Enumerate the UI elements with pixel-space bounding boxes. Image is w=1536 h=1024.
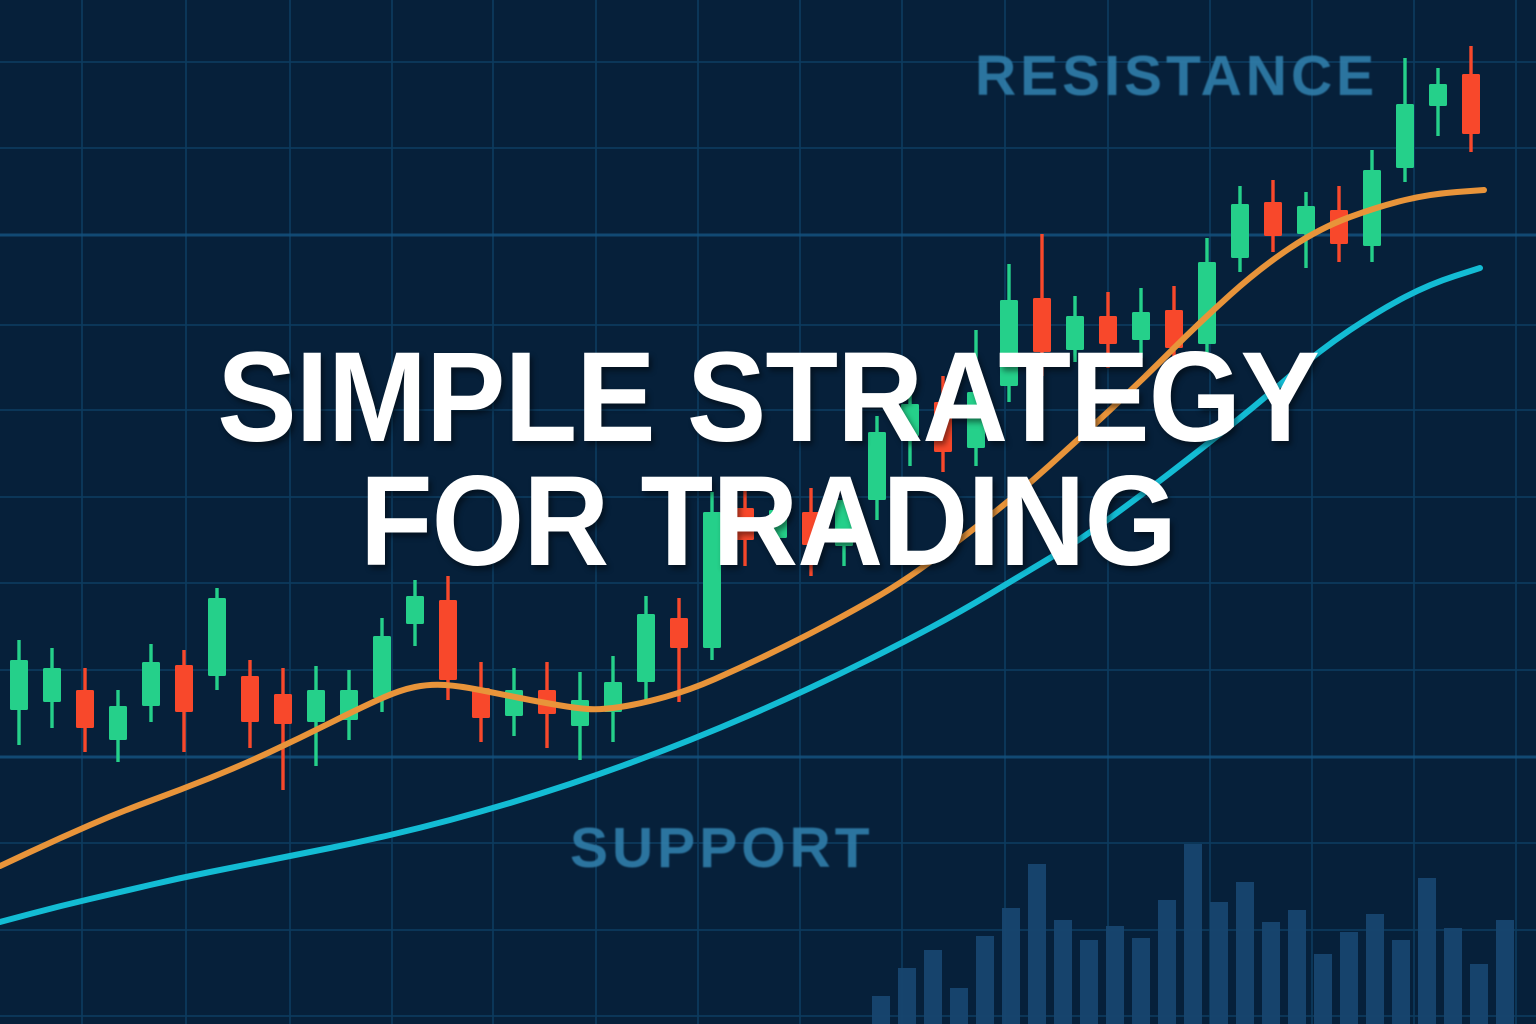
volume-bar [1236,882,1254,1024]
candle-body [769,510,787,538]
candle-body [76,690,94,728]
candle-body [934,402,952,452]
volume-bar [1366,914,1384,1024]
candle-body [802,512,820,545]
volume-bar [1158,900,1176,1024]
candle-body [1000,300,1018,386]
volume-bar [1470,964,1488,1024]
candle-body [373,636,391,698]
candle-body [670,618,688,648]
volume-bar [1288,910,1306,1024]
candle-body [1231,204,1249,258]
volume-bar [872,996,890,1024]
ma-slow-line [0,268,1480,922]
candle-body [868,432,886,500]
candle-body [1033,298,1051,352]
trading-chart-banner: RESISTANCE SUPPORT SIMPLE STRATEGY FOR T… [0,0,1536,1024]
candle-body [1297,206,1315,234]
candle-body [1198,262,1216,344]
candle-body [1099,316,1117,344]
candle-body [1429,84,1447,106]
volume-bar [976,936,994,1024]
candle-body [307,690,325,722]
volume-bar [1392,940,1410,1024]
volume-bar [1210,902,1228,1024]
candle-body [109,706,127,740]
candle-body [1132,312,1150,340]
candle-body [439,600,457,680]
candle-body [703,512,721,648]
candle-body [241,676,259,722]
volume-bar [1184,844,1202,1024]
candle-body [406,596,424,624]
candle-body [208,598,226,676]
candle-body [835,500,853,546]
volume-bar [950,988,968,1024]
candle-body [142,662,160,706]
candle-body [10,660,28,710]
candle-body [43,668,61,702]
candle-body [901,404,919,436]
volume-bar [1132,938,1150,1024]
volume-bar [1418,878,1436,1024]
candle-body [274,694,292,724]
candle-body [1066,316,1084,350]
candle-body [637,614,655,682]
candle-body [571,700,589,726]
volume-bar [924,950,942,1024]
volume-bar [1002,908,1020,1024]
volume-bar [1028,864,1046,1024]
volume-bars [872,844,1514,1024]
candlestick-series [10,46,1480,790]
volume-bar [1106,926,1124,1024]
volume-bar [1262,922,1280,1024]
candle-body [1396,104,1414,168]
candle-body [736,508,754,540]
volume-bar [1340,932,1358,1024]
volume-bar [1444,928,1462,1024]
volume-bar [1496,920,1514,1024]
volume-bar [1054,920,1072,1024]
candle-body [1264,202,1282,236]
candle-body [175,665,193,712]
volume-bar [898,968,916,1024]
volume-bar [1314,954,1332,1024]
volume-bar [1080,940,1098,1024]
candle-body [1462,74,1480,134]
candlestick-chart [0,0,1536,1024]
candle-body [967,392,985,448]
